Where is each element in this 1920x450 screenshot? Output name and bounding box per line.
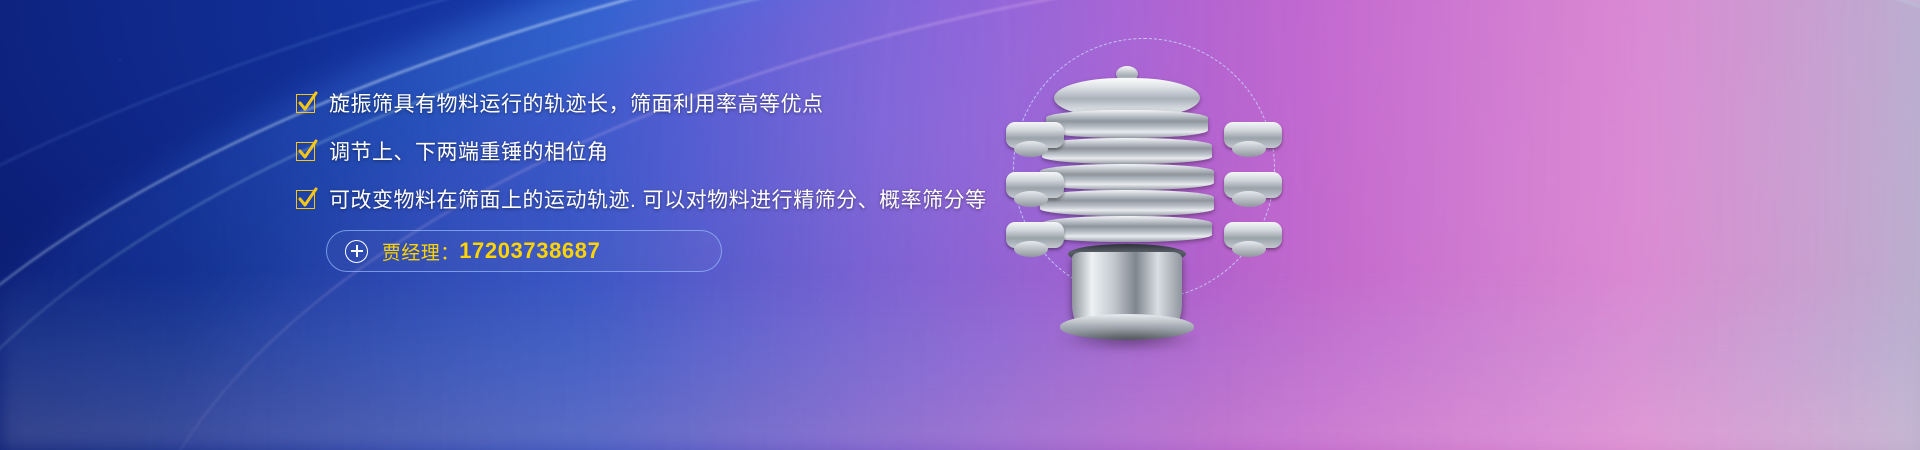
contact-button[interactable]: 贾经理 ： 17203738687	[326, 230, 722, 272]
contact-person-name: 贾经理	[382, 238, 440, 265]
contact-phone-number[interactable]: 17203738687	[459, 238, 600, 264]
check-box-icon	[296, 94, 315, 113]
sieve-deck	[1040, 164, 1214, 190]
rotary-vibrating-sieve-image	[1008, 48, 1280, 310]
horizon-glow	[0, 270, 1920, 450]
product-shadow	[1056, 330, 1202, 350]
clamp-pad	[1232, 191, 1266, 207]
feature-item-label: 旋振筛具有物料运行的轨迹长，筛面利用率高等优点	[329, 88, 824, 118]
feature-item-label: 可改变物料在筛面上的运动轨迹. 可以对物料进行精筛分、概率筛分等	[329, 184, 987, 214]
plus-circle-icon	[345, 240, 368, 263]
check-box-icon	[296, 142, 315, 161]
feature-list: 旋振筛具有物料运行的轨迹长，筛面利用率高等优点 调节上、下两端重锤的相位角 可改…	[296, 86, 1036, 272]
sieve-deck	[1042, 216, 1212, 242]
sieve-clamp	[1224, 122, 1282, 148]
feature-item-1: 旋振筛具有物料运行的轨迹长，筛面利用率高等优点	[296, 86, 1036, 120]
feature-item-2: 调节上、下两端重锤的相位角	[296, 134, 1036, 168]
light-ray	[1447, 0, 1476, 260]
clamp-pad	[1232, 241, 1266, 257]
check-box-icon	[296, 190, 315, 209]
sieve-clamp	[1224, 172, 1282, 198]
sieve-deck	[1046, 110, 1208, 138]
sieve-deck	[1042, 138, 1212, 164]
feature-item-3: 可改变物料在筛面上的运动轨迹. 可以对物料进行精筛分、概率筛分等	[296, 182, 1036, 216]
promo-banner: 旋振筛具有物料运行的轨迹长，筛面利用率高等优点 调节上、下两端重锤的相位角 可改…	[0, 0, 1920, 450]
sieve-deck	[1040, 190, 1214, 216]
contact-separator: ：	[440, 238, 459, 265]
right-glow	[1220, 0, 1920, 450]
feature-item-label: 调节上、下两端重锤的相位角	[329, 136, 609, 166]
clamp-pad	[1232, 141, 1266, 157]
sieve-clamp	[1224, 222, 1282, 248]
